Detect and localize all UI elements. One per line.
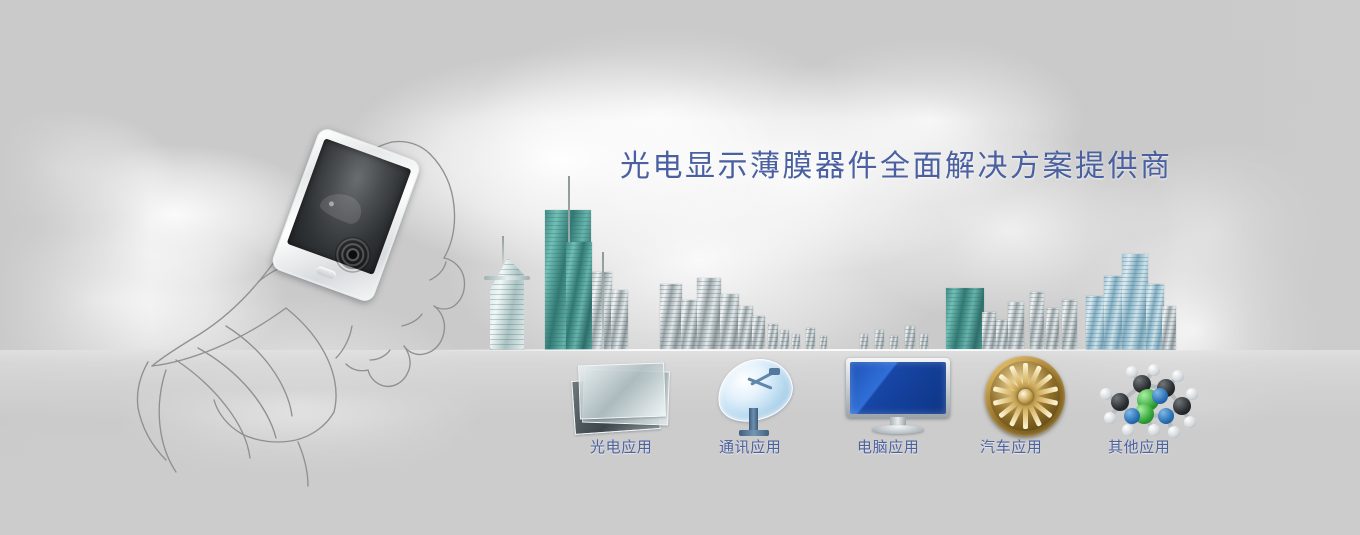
skyscraper [1122,254,1148,350]
molecular-atom [1122,424,1134,436]
monitor-bezel [846,358,950,418]
skyscraper [780,330,789,350]
molecular-atom [1104,412,1116,424]
glass-panels-icon [571,362,675,428]
application-labels-row: 光电应用通讯应用电脑应用汽车应用其他应用 [0,436,1360,460]
skyscraper [820,336,827,350]
molecular-atom [1111,393,1129,411]
monitor-stand [872,425,924,434]
car-wheel-icon [985,356,1065,436]
molecular-atom [1186,388,1198,400]
skyscraper [752,316,765,350]
application-label-2[interactable]: 通讯应用 [719,436,781,457]
molecular-atom [1100,388,1112,400]
application-icon-5[interactable] [1086,352,1206,442]
monitor-icon [846,358,950,438]
molecule-icon [1092,356,1200,438]
skyscraper [660,284,682,350]
application-icon-1[interactable] [563,352,683,442]
phone-home-button [315,265,337,279]
application-label-5[interactable]: 其他应用 [1108,436,1170,457]
panel-layer [578,363,666,420]
skyscraper [1104,276,1124,350]
skyscraper [996,320,1008,350]
skyscraper [1162,306,1176,350]
molecular-atom [1148,424,1160,436]
skyscraper [611,290,628,350]
application-icon-3[interactable] [838,352,958,442]
sail-tower-building [480,244,536,350]
phone-screen-glyph [317,188,365,227]
phone-touch-ripple [330,232,376,278]
molecular-atom [1172,370,1184,382]
skyscraper [982,312,996,350]
skyscraper [875,330,884,350]
application-icon-2[interactable] [695,352,815,442]
skyscraper [697,278,721,350]
application-label-4[interactable]: 汽车应用 [980,436,1042,457]
skyscraper [806,328,815,350]
skyscraper [890,336,898,350]
skyscraper [1062,300,1077,350]
application-label-3[interactable]: 电脑应用 [857,436,919,457]
page-title: 光电显示薄膜器件全面解决方案提供商 [620,141,1173,185]
skyscraper [920,334,928,350]
satellite-dish-icon [713,358,799,436]
building-spire [602,252,604,350]
skyscraper [566,242,592,350]
skyscraper [860,334,868,350]
molecular-atom [1124,408,1140,424]
skyscraper [1008,302,1024,350]
application-icon-4[interactable] [963,352,1083,442]
skyscraper [946,288,984,350]
skyscraper [1046,308,1059,350]
wheel-hub [1018,389,1033,404]
skyscraper [792,334,800,350]
skyscraper [905,326,915,350]
molecular-atom [1184,416,1196,428]
skyscraper [720,294,739,350]
dish-lnb [769,368,780,375]
skyscraper [738,306,753,350]
skyscraper [681,300,698,350]
application-label-1[interactable]: 光电应用 [590,436,652,457]
molecular-atom [1148,364,1160,376]
molecular-atom [1126,366,1138,378]
horizon-line [430,349,1210,351]
promotional-banner: 光电显示薄膜器件全面解决方案提供商 光电应用通讯应用电脑应用汽车应用其他应用 [0,0,1360,535]
monitor-screen [850,362,946,414]
molecular-atom [1158,408,1174,424]
molecular-atom [1173,397,1191,415]
molecular-atom [1152,388,1168,404]
skyscraper [1030,292,1044,350]
skyscraper [768,324,778,350]
